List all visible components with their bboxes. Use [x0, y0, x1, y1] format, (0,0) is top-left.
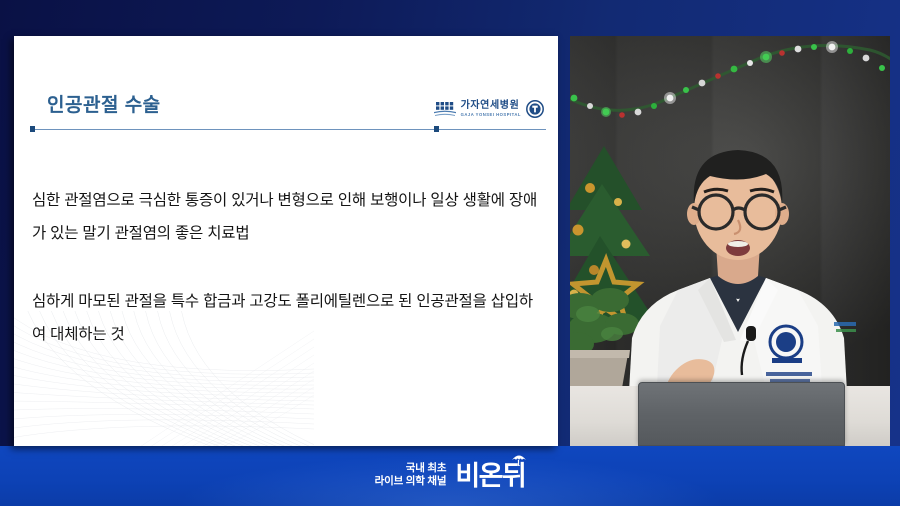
hospital-logo: 가자연세병원 GAJA YONSEI HOSPITAL [434, 96, 544, 122]
hospital-name-kr: 가자연세병원 [461, 101, 521, 111]
hospital-name-en: GAJA YONSEI HOSPITAL [461, 113, 521, 117]
channel-name: 비온뒤 [455, 463, 525, 490]
hospital-name-block: 가자연세병원 GAJA YONSEI HOSPITAL [461, 101, 521, 117]
slide-paragraph-2: 심하게 마모된 관절을 특수 합금과 고강도 폴리에틸렌으로 된 인공관절을 삽… [32, 285, 540, 351]
slide-paragraph-1: 심한 관절염으로 극심한 통증이 있거나 변형으로 인해 보행이나 일상 생활에… [32, 184, 540, 250]
laptop[interactable] [638, 382, 845, 446]
presentation-slide: 인공관절 수술 가자연세병원 GAJA YONSEI HOSPITAL [14, 36, 558, 446]
channel-logo: 비온뒤 [455, 463, 525, 490]
broadcast-screen: 인공관절 수술 가자연세병원 GAJA YONSEI HOSPITAL [0, 0, 900, 506]
hospital-building-icon [434, 100, 456, 118]
title-divider [31, 129, 546, 130]
divider-node-right [434, 126, 439, 132]
live-speaker-video[interactable] [570, 36, 890, 446]
hospital-emblem-icon [526, 100, 544, 118]
tagline-line-2: 라이브 의학 채널 [375, 475, 447, 488]
slide-title: 인공관절 수술 [47, 90, 161, 117]
tagline-line-1: 국내 최초 [406, 462, 447, 475]
channel-tagline: 국내 최초 라이브 의학 채널 [375, 462, 447, 490]
umbrella-icon [511, 453, 527, 466]
slide-body: 심한 관절염으로 극심한 통증이 있거나 변형으로 인해 보행이나 일상 생활에… [32, 184, 540, 351]
divider-node-left [30, 126, 35, 132]
channel-branding: 국내 최초 라이브 의학 채널 비온뒤 [0, 452, 900, 500]
